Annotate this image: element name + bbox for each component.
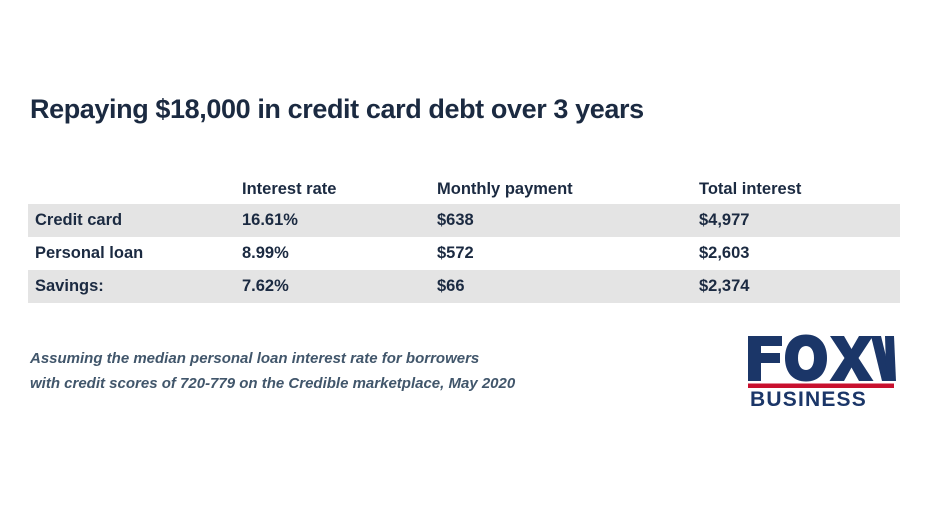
- cell-personal-loan-total-interest: $2,603: [695, 244, 900, 263]
- fox-wordmark-icon: [748, 335, 896, 382]
- cell-credit-card-interest-rate: 16.61%: [238, 211, 433, 230]
- fox-business-logo: BUSINESS: [744, 330, 896, 410]
- table-row: Personal loan 8.99% $572 $2,603: [28, 237, 900, 270]
- table-row: Savings: 7.62% $66 $2,374: [28, 270, 900, 303]
- footnote-line-1: Assuming the median personal loan intere…: [30, 346, 515, 371]
- infographic-root: Repaying $18,000 in credit card debt ove…: [0, 0, 932, 524]
- row-label-savings: Savings:: [28, 277, 238, 296]
- column-header-interest-rate: Interest rate: [238, 180, 433, 199]
- row-label-credit-card: Credit card: [28, 211, 238, 230]
- table-header-row: Interest rate Monthly payment Total inte…: [28, 174, 900, 204]
- page-title: Repaying $18,000 in credit card debt ove…: [30, 94, 644, 125]
- row-label-personal-loan: Personal loan: [28, 244, 238, 263]
- footnote: Assuming the median personal loan intere…: [30, 346, 515, 396]
- cell-credit-card-monthly-payment: $638: [433, 211, 695, 230]
- footnote-line-2: with credit scores of 720-779 on the Cre…: [30, 371, 515, 396]
- cell-savings-monthly-payment: $66: [433, 277, 695, 296]
- cell-personal-loan-monthly-payment: $572: [433, 244, 695, 263]
- comparison-table: Interest rate Monthly payment Total inte…: [28, 174, 900, 303]
- cell-credit-card-total-interest: $4,977: [695, 211, 900, 230]
- business-wordmark-icon: BUSINESS: [750, 388, 867, 410]
- cell-savings-interest-rate: 7.62%: [238, 277, 433, 296]
- column-header-monthly-payment: Monthly payment: [433, 180, 695, 199]
- cell-savings-total-interest: $2,374: [695, 277, 900, 296]
- table-row: Credit card 16.61% $638 $4,977: [28, 204, 900, 237]
- column-header-total-interest: Total interest: [695, 180, 900, 199]
- cell-personal-loan-interest-rate: 8.99%: [238, 244, 433, 263]
